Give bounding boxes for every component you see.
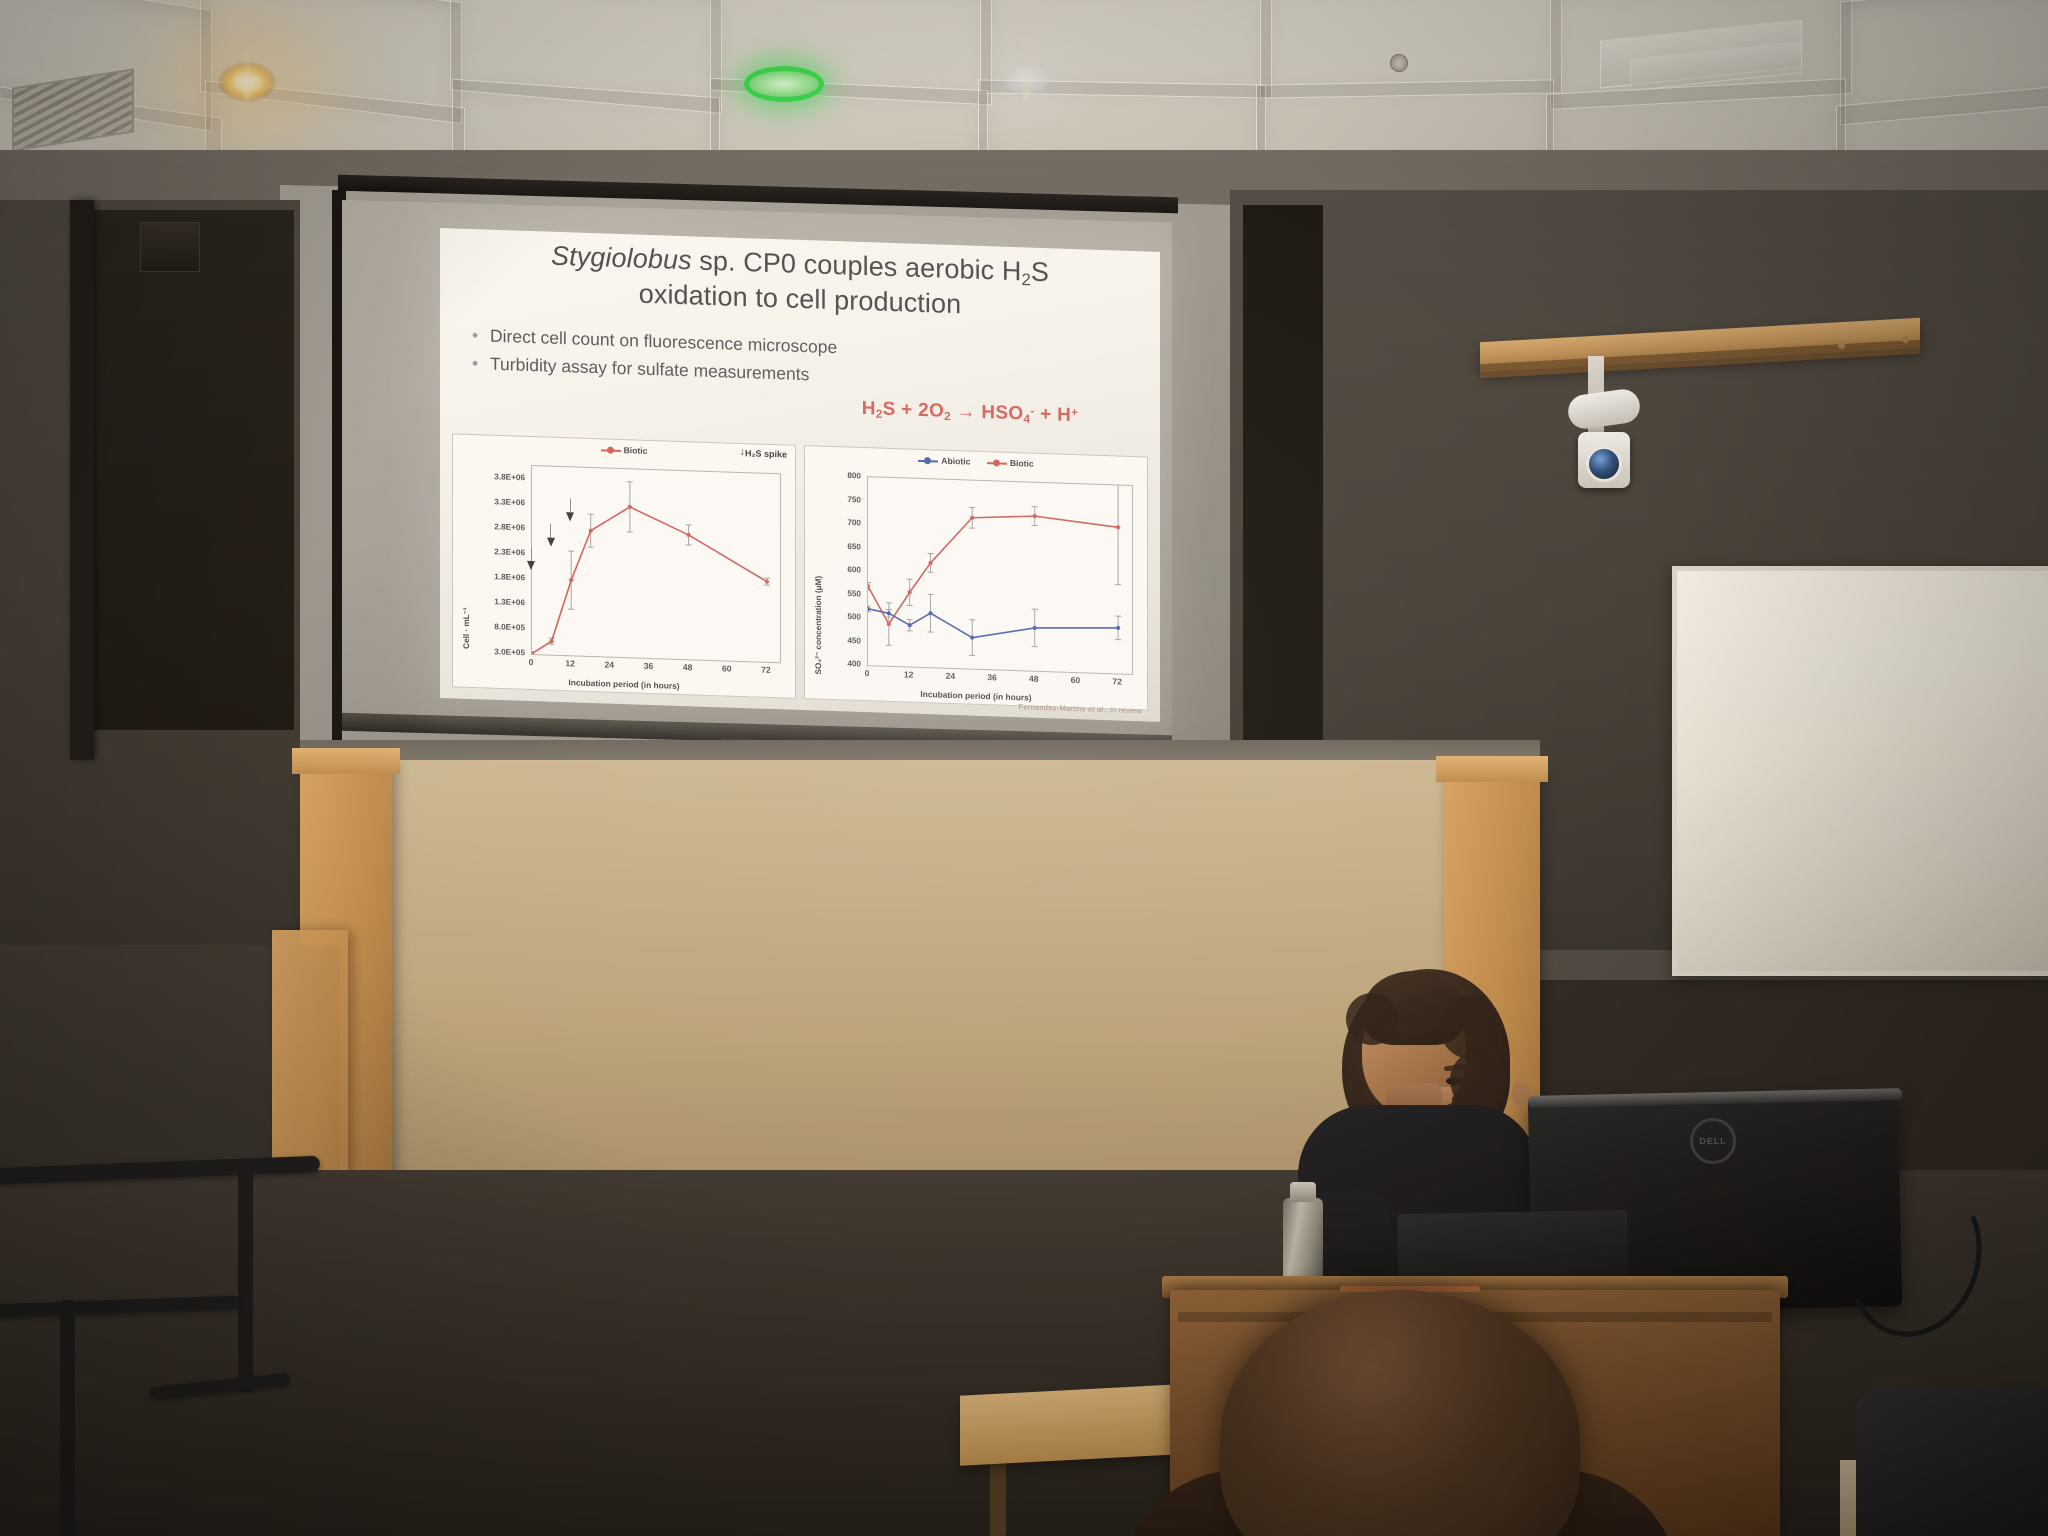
x-tick-label: 12 bbox=[904, 669, 914, 679]
x-tick-label: 36 bbox=[987, 672, 997, 682]
y-tick-label: 8.0E+05 bbox=[494, 622, 525, 632]
recessed-downlight-icon bbox=[1000, 62, 1052, 96]
slide-title: Stygiolobus sp. CP0 couples aerobic H2S … bbox=[458, 237, 1142, 328]
y-tick-label: 650 bbox=[847, 542, 861, 551]
green-indicator-light-icon bbox=[744, 66, 824, 102]
equation-tail: S bbox=[883, 399, 896, 420]
y-tick-label: 550 bbox=[847, 589, 861, 598]
y-axis-label-left: Cell · mL⁻¹ bbox=[461, 607, 471, 649]
chart-svg-right bbox=[868, 477, 1132, 674]
presentation-slide: Stygiolobus sp. CP0 couples aerobic H2S … bbox=[440, 228, 1160, 722]
dark-doorway bbox=[94, 210, 294, 730]
shelf-peg-icon bbox=[1902, 336, 1909, 343]
handrail-post bbox=[60, 1300, 75, 1536]
x-tick-label: 60 bbox=[1071, 675, 1081, 685]
recessed-downlight-icon bbox=[218, 62, 276, 102]
legend-label: Abiotic bbox=[941, 456, 970, 467]
handrail-post bbox=[238, 1162, 253, 1392]
y-tick-label: 700 bbox=[847, 518, 861, 527]
bottle-cap bbox=[1290, 1182, 1316, 1202]
h2s-spike-annotation: ↓H₂S spike bbox=[739, 447, 787, 461]
h2s-spike-arrow-icon bbox=[547, 538, 555, 547]
presenter-hair-curl bbox=[1440, 995, 1500, 1059]
y-axis-label-right: SO₄²⁻ concentration (μM) bbox=[813, 576, 823, 675]
cell-count-chart: Biotic ↓H₂S spike Cell · mL⁻¹ Incubation… bbox=[452, 433, 796, 698]
side-table bbox=[960, 1384, 1180, 1466]
presenter-ear bbox=[1512, 1081, 1529, 1107]
x-tick-label: 72 bbox=[1112, 676, 1122, 686]
y-tick-label: 3.3E+06 bbox=[494, 497, 525, 507]
legend-item-abiotic: Abiotic bbox=[918, 455, 970, 467]
legend-item-biotic: Biotic bbox=[601, 444, 648, 456]
y-tick-label: 600 bbox=[847, 565, 861, 574]
x-tick-label: 0 bbox=[529, 657, 534, 667]
y-tick-label: 2.8E+06 bbox=[494, 522, 525, 532]
slide-title-tail: S bbox=[1031, 257, 1049, 288]
presenter-hair-curl bbox=[1346, 993, 1398, 1045]
wall-speaker bbox=[140, 222, 200, 272]
x-tick-label: 72 bbox=[761, 665, 771, 675]
y-tick-label: 400 bbox=[847, 659, 861, 668]
chemical-equation: H2S + 2O2 → HSO4- + H+ bbox=[800, 396, 1140, 430]
camera-lens-icon bbox=[1586, 446, 1622, 482]
slide-title-genus: Stygiolobus bbox=[551, 241, 692, 276]
equation-sup: + bbox=[1071, 406, 1078, 419]
slide-title-line2: oxidation to cell production bbox=[639, 279, 962, 320]
h2s-spike-arrow-icon bbox=[527, 561, 535, 570]
h2s-spike-arrow-stem bbox=[570, 498, 571, 512]
legend-swatch-abiotic bbox=[918, 460, 938, 463]
pillar-cap bbox=[1436, 756, 1548, 782]
water-bottle bbox=[1283, 1198, 1323, 1284]
equation-product-hso4: HSO bbox=[981, 402, 1023, 424]
x-axis-label-left: Incubation period (in hours) bbox=[453, 673, 795, 694]
equation-reactant-h2s: H bbox=[862, 398, 876, 419]
h2s-spike-arrow-stem bbox=[550, 524, 551, 538]
x-tick-label: 36 bbox=[644, 661, 654, 671]
equation-sub: 2 bbox=[944, 410, 951, 423]
y-tick-label: 3.0E+05 bbox=[494, 647, 525, 657]
legend-label: Biotic bbox=[1010, 458, 1034, 469]
equation-plus: + bbox=[1035, 404, 1058, 426]
y-tick-label: 450 bbox=[847, 636, 861, 645]
h2s-spike-arrow-icon bbox=[566, 512, 574, 521]
legend-label: Biotic bbox=[624, 445, 648, 456]
whiteboard bbox=[1672, 566, 2048, 976]
equation-coefficient: 2 bbox=[918, 400, 929, 421]
pillar-cap bbox=[292, 748, 400, 774]
h2s-spike-arrow-stem bbox=[531, 547, 532, 561]
slide-title-rest: sp. CP0 couples aerobic H bbox=[692, 245, 1022, 286]
shelf-peg-icon bbox=[1838, 342, 1845, 349]
down-arrow-icon: ↓ bbox=[739, 446, 745, 458]
x-tick-label: 24 bbox=[605, 659, 615, 669]
y-tick-label: 1.3E+06 bbox=[494, 597, 525, 607]
equation-reactant-o2: O bbox=[929, 400, 944, 422]
y-tick-label: 2.3E+06 bbox=[494, 547, 525, 557]
y-tick-label: 500 bbox=[847, 612, 861, 621]
x-tick-label: 48 bbox=[1029, 674, 1039, 684]
legend-item-biotic: Biotic bbox=[987, 457, 1034, 469]
x-tick-label: 60 bbox=[722, 663, 732, 673]
equation-plus: + bbox=[896, 399, 919, 421]
sulfate-concentration-chart: Abiotic Biotic SO₄²⁻ concentration (μM) … bbox=[804, 445, 1148, 710]
equation-arrow-icon: → bbox=[951, 401, 981, 423]
y-tick-label: 750 bbox=[847, 495, 861, 504]
y-tick-label: 1.8E+06 bbox=[494, 572, 525, 582]
annotation-label: H₂S spike bbox=[745, 448, 787, 459]
chart-legend-right: Abiotic Biotic bbox=[805, 451, 1147, 472]
plot-area-left bbox=[531, 465, 781, 663]
x-tick-label: 48 bbox=[683, 662, 693, 672]
slide-title-sub: 2 bbox=[1021, 270, 1030, 289]
plot-area-right bbox=[867, 476, 1133, 675]
x-axis-label-right: Incubation period (in hours) bbox=[805, 685, 1147, 706]
door-frame bbox=[70, 200, 94, 760]
legend-swatch-biotic bbox=[987, 462, 1007, 465]
legend-swatch-biotic bbox=[601, 449, 621, 452]
x-tick-label: 0 bbox=[865, 668, 870, 678]
equation-product-h: H bbox=[1057, 404, 1071, 425]
x-tick-label: 12 bbox=[565, 658, 575, 668]
slide-bullet-list: Direct cell count on fluorescence micros… bbox=[468, 321, 1128, 400]
y-tick-label: 800 bbox=[847, 471, 861, 480]
y-tick-label: 3.8E+06 bbox=[494, 472, 525, 482]
x-tick-label: 24 bbox=[946, 671, 956, 681]
sprinkler-head-icon bbox=[1390, 54, 1408, 72]
equation-sub: 2 bbox=[876, 408, 883, 421]
lecture-hall-photo: Stygiolobus sp. CP0 couples aerobic H2S … bbox=[0, 0, 2048, 1536]
chart-svg-left bbox=[532, 466, 780, 662]
draped-jacket bbox=[1856, 1388, 2048, 1536]
